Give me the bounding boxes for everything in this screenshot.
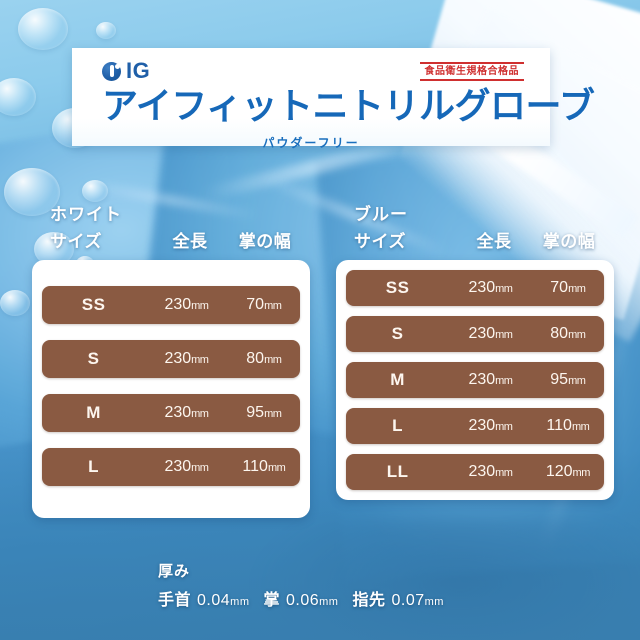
column-header-palm-width: 掌の幅 [230, 227, 300, 252]
cell-length: 230mm [449, 279, 532, 297]
group-label-blue: ブルー [336, 205, 614, 225]
cell-size: LL [346, 462, 449, 482]
cell-length: 230mm [145, 350, 228, 368]
product-subtitle: パウダーフリー [72, 134, 550, 151]
spec-card-blue: SS 230mm 70mm S 230mm 80mm M 230mm 95mm … [336, 260, 614, 500]
thickness-section: 厚み 手首 0.04mm 掌 0.06mm 指先 0.07mm [158, 560, 518, 610]
cell-palm-width: 70mm [228, 296, 300, 314]
cell-length: 230mm [449, 463, 532, 481]
water-droplet-icon [0, 78, 36, 116]
thickness-value-palm: 0.06mm [286, 592, 338, 610]
certification-badge: 食品衛生規格合格品 [420, 62, 525, 81]
column-header-size: サイズ [42, 227, 150, 252]
thickness-label-wrist: 手首 [158, 586, 191, 610]
spec-card-white: SS 230mm 70mm S 230mm 80mm M 230mm 95mm … [32, 260, 310, 518]
thickness-label-fingertip: 指先 [352, 586, 385, 610]
table-row: L 230mm 110mm [42, 448, 300, 486]
thickness-title: 厚み [158, 560, 518, 581]
table-row: L 230mm 110mm [346, 408, 604, 444]
thickness-value-fingertip: 0.07mm [391, 592, 443, 610]
cell-length: 230mm [145, 458, 228, 476]
cell-palm-width: 95mm [532, 371, 604, 389]
cell-palm-width: 110mm [532, 417, 604, 435]
cell-size: M [346, 370, 449, 390]
table-row: S 230mm 80mm [346, 316, 604, 352]
column-header-palm-width: 掌の幅 [534, 227, 604, 252]
brand-logo: IG [102, 60, 150, 82]
cell-palm-width: 110mm [228, 458, 300, 476]
table-row: LL 230mm 120mm [346, 454, 604, 490]
cell-length: 230mm [449, 371, 532, 389]
cell-length: 230mm [449, 325, 532, 343]
thickness-label-palm: 掌 [263, 586, 280, 610]
cell-length: 230mm [145, 296, 228, 314]
water-droplet-icon [82, 180, 108, 202]
cell-size: SS [346, 278, 449, 298]
column-header-size: サイズ [346, 227, 454, 252]
table-row: SS 230mm 70mm [42, 286, 300, 324]
spec-table-blue: ブルー サイズ 全長 掌の幅 SS 230mm 70mm S 230mm 80m… [336, 205, 614, 500]
product-spec-poster: IG 食品衛生規格合格品 アイフィットニトリルグローブ パウダーフリー ホワイト… [0, 0, 640, 640]
column-headers-white: サイズ 全長 掌の幅 [32, 225, 310, 252]
water-droplet-icon [0, 290, 30, 316]
column-header-length: 全長 [454, 227, 534, 252]
table-row: SS 230mm 70mm [346, 270, 604, 306]
thickness-values: 手首 0.04mm 掌 0.06mm 指先 0.07mm [158, 586, 518, 610]
cell-palm-width: 80mm [228, 350, 300, 368]
cell-length: 230mm [449, 417, 532, 435]
cell-palm-width: 70mm [532, 279, 604, 297]
cell-size: L [42, 457, 145, 477]
cell-size: SS [42, 295, 145, 315]
spec-table-white: ホワイト サイズ 全長 掌の幅 SS 230mm 70mm S 230mm 80… [32, 205, 310, 518]
table-row: S 230mm 80mm [42, 340, 300, 378]
cell-size: S [346, 324, 449, 344]
group-label-white: ホワイト [32, 205, 310, 225]
cell-palm-width: 95mm [228, 404, 300, 422]
cell-length: 230mm [145, 404, 228, 422]
thickness-value-wrist: 0.04mm [197, 592, 249, 610]
ig-circle-logo-icon [102, 62, 121, 81]
water-droplet-icon [18, 8, 68, 50]
table-row: M 230mm 95mm [346, 362, 604, 398]
water-droplet-icon [96, 22, 116, 39]
table-row: M 230mm 95mm [42, 394, 300, 432]
cell-palm-width: 120mm [532, 463, 604, 481]
cell-size: M [42, 403, 145, 423]
brand-name: IG [126, 60, 150, 82]
header-banner: IG 食品衛生規格合格品 アイフィットニトリルグローブ パウダーフリー [72, 48, 550, 146]
cell-palm-width: 80mm [532, 325, 604, 343]
column-headers-blue: サイズ 全長 掌の幅 [336, 225, 614, 252]
product-title: アイフィットニトリルグローブ [102, 88, 522, 124]
cell-size: L [346, 416, 449, 436]
column-header-length: 全長 [150, 227, 230, 252]
cell-size: S [42, 349, 145, 369]
